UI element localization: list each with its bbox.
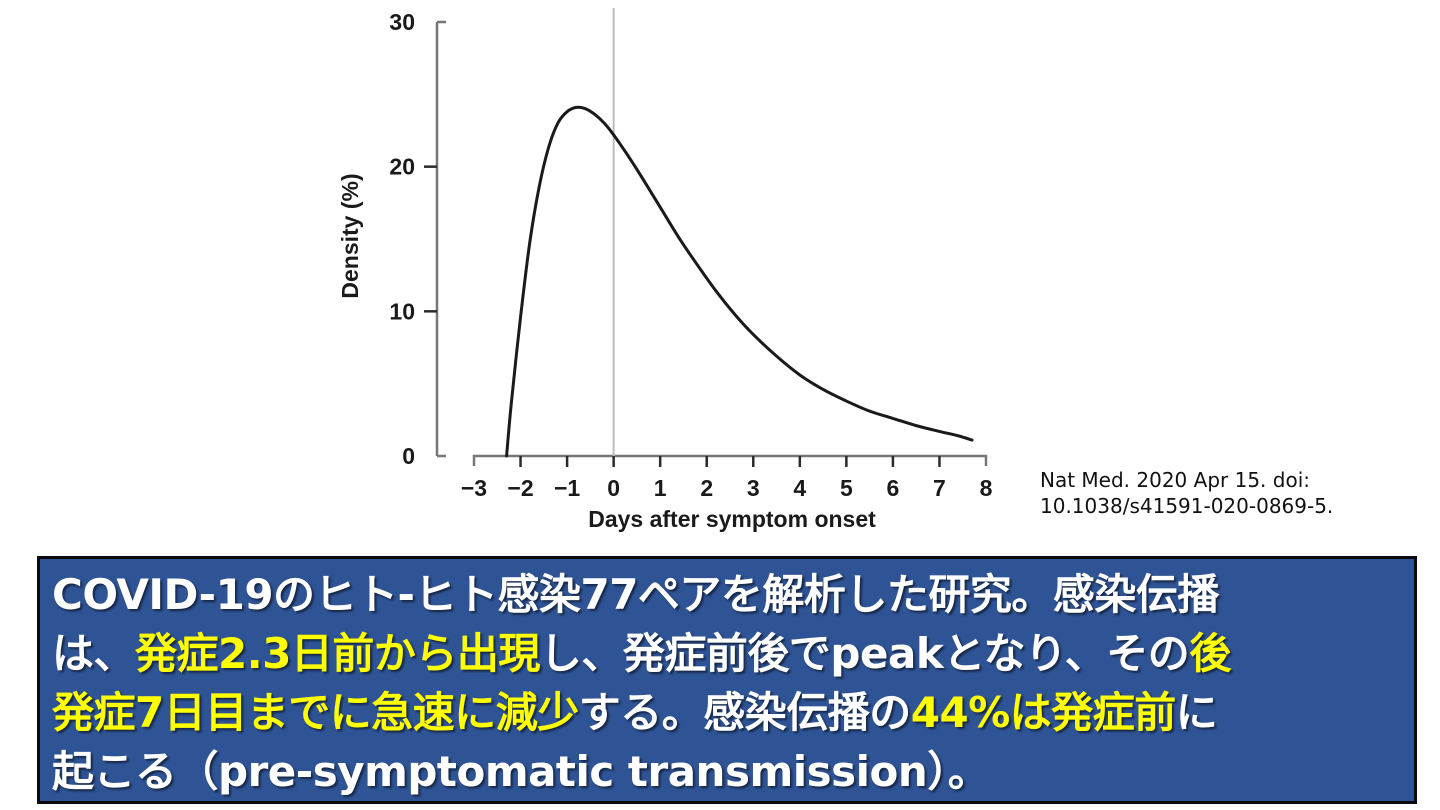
caption-line: 発症7日目までに急速に減少する。感染伝播の44%は発症前に	[52, 683, 1404, 742]
y-tick-label: 10	[389, 298, 415, 324]
caption-highlight-text: 発症7日目までに急速に減少	[52, 688, 579, 737]
x-tick-label: 5	[840, 475, 853, 501]
caption-plain-text: に	[1176, 688, 1218, 737]
caption-plain-text: する。感染伝播の	[579, 688, 911, 737]
infectiousness-density-chart: 0102030 −3−2−1012345678 Days after sympt…	[0, 0, 1440, 545]
y-tick-label: 20	[389, 154, 415, 180]
x-tick-label: 2	[700, 475, 713, 501]
density-curve	[507, 107, 972, 456]
caption-line: は、発症2.3日前から出現し、発症前後でpeakとなり、その後	[52, 624, 1404, 683]
x-tick-label: 7	[933, 475, 946, 501]
y-tick-label: 0	[402, 443, 415, 469]
x-tick-label: 4	[793, 475, 806, 501]
x-tick-label: −3	[461, 475, 487, 501]
x-tick-label: −2	[507, 475, 533, 501]
x-axis: −3−2−1012345678	[461, 456, 993, 501]
caption-line: 起こる（pre-symptomatic transmission）。	[52, 742, 1404, 801]
caption-line: COVID-19のヒト-ヒト感染77ペアを解析した研究。感染伝播	[52, 565, 1404, 624]
caption-plain-text: COVID-19のヒト-ヒト感染77ペアを解析した研究。感染伝播	[52, 570, 1219, 619]
x-tick-label: 3	[747, 475, 760, 501]
caption-highlight-text: 発症2.3日前から出現	[135, 629, 540, 678]
x-tick-label: 1	[654, 475, 667, 501]
x-tick-label: 6	[887, 475, 900, 501]
x-axis-title: Days after symptom onset	[588, 506, 876, 532]
y-axis-title: Density (%)	[337, 173, 363, 298]
x-tick-label: −1	[554, 475, 580, 501]
caption-highlight-text: 後	[1189, 629, 1231, 678]
x-tick-label: 0	[607, 475, 620, 501]
caption-banner: COVID-19のヒト-ヒト感染77ペアを解析した研究。感染伝播は、発症2.3日…	[37, 556, 1417, 804]
y-axis: 0102030	[389, 9, 446, 469]
caption-text-block: COVID-19のヒト-ヒト感染77ペアを解析した研究。感染伝播は、発症2.3日…	[52, 565, 1404, 801]
source-citation: Nat Med. 2020 Apr 15. doi: 10.1038/s4159…	[1040, 468, 1430, 519]
caption-plain-text: は、	[52, 629, 135, 678]
caption-plain-text: 起こる（pre-symptomatic transmission）。	[52, 747, 989, 796]
slide-root: 0102030 −3−2−1012345678 Days after sympt…	[0, 0, 1440, 810]
figure-panel: 0102030 −3−2−1012345678 Days after sympt…	[0, 0, 1440, 545]
x-tick-label: 8	[980, 475, 993, 501]
caption-plain-text: し、発症前後でpeakとなり、その	[540, 629, 1189, 678]
y-tick-label: 30	[389, 9, 415, 35]
caption-highlight-text: 44%は発症前	[911, 688, 1176, 737]
